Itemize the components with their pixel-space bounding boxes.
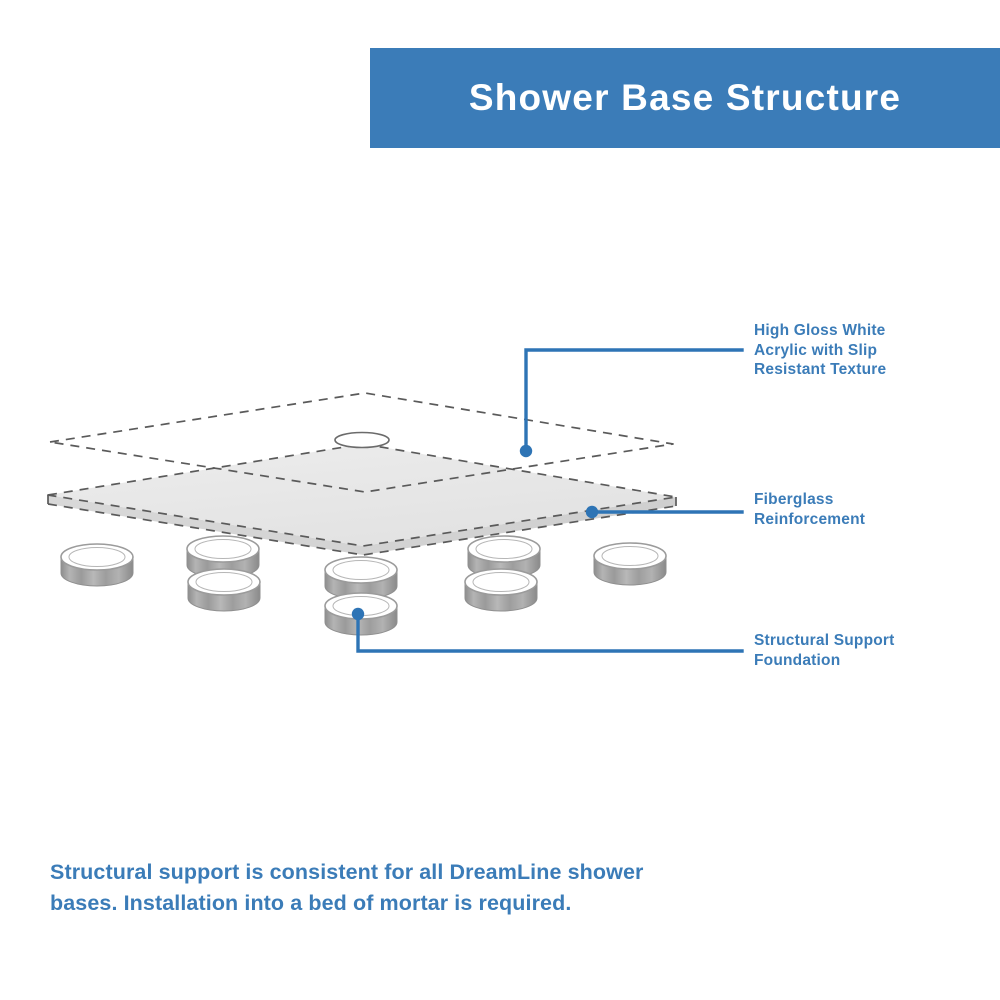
callout-label-fiberglass: Fiberglass Reinforcement — [754, 490, 989, 529]
support-ring — [594, 543, 666, 585]
support-ring — [188, 569, 260, 611]
leader-line-acrylic — [520, 350, 742, 457]
drain-opening-icon — [335, 433, 389, 448]
callout-label-acrylic: High Gloss White Acrylic with Slip Resis… — [754, 321, 989, 380]
support-ring — [61, 544, 133, 586]
callout-label-support: Structural Support Foundation — [754, 631, 989, 670]
fiberglass-layer — [48, 444, 676, 555]
leader-line-support — [352, 608, 742, 651]
footnote-text: Structural support is consistent for all… — [50, 857, 690, 919]
support-ring — [465, 569, 537, 611]
diagram-canvas: Shower Base Structure — [0, 0, 1000, 1000]
